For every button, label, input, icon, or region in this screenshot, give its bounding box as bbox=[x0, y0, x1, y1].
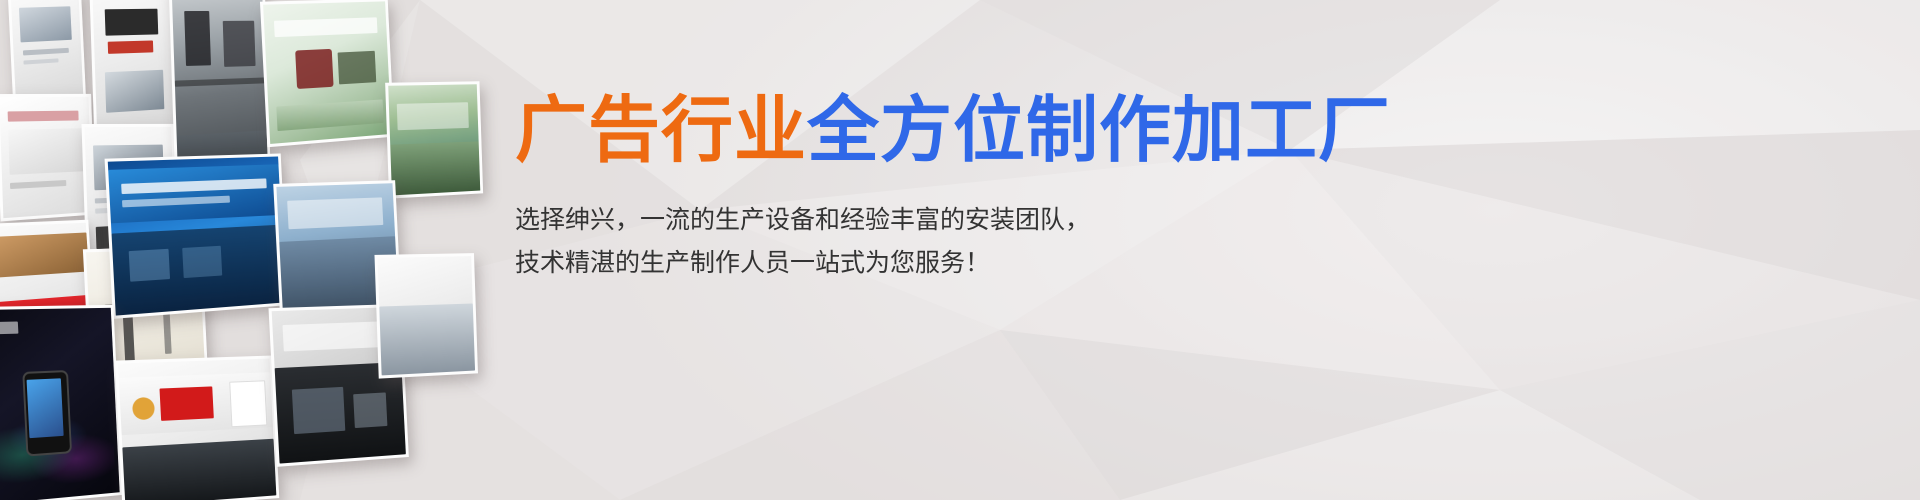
collage-photo-iphone-poster-lightbox bbox=[0, 305, 123, 500]
subtitle-line-1: 选择绅兴，一流的生产设备和经验丰富的安装团队， bbox=[515, 198, 1495, 241]
headline-part-blue: 全方位制作加工厂 bbox=[807, 88, 1391, 172]
collage-photo-qingtian-shop-sign bbox=[115, 356, 279, 500]
subtitle: 选择绅兴，一流的生产设备和经验丰富的安装团队， 技术精湛的生产制作人员一站式为您… bbox=[515, 198, 1495, 284]
headline: 广告行业全方位制作加工厂 bbox=[515, 92, 1495, 168]
collage-photo-product-box-stack bbox=[0, 94, 95, 222]
collage-photo-garden-wall-sign bbox=[260, 0, 394, 147]
collage-photo-white-panel-right bbox=[374, 253, 477, 379]
promo-banner: 广告行业全方位制作加工厂 选择绅兴，一流的生产设备和经验丰富的安装团队， 技术精… bbox=[0, 0, 1920, 500]
banner-text-block: 广告行业全方位制作加工厂 选择绅兴，一流的生产设备和经验丰富的安装团队， 技术精… bbox=[515, 92, 1495, 284]
subtitle-line-2: 技术精湛的生产制作人员一站式为您服务！ bbox=[515, 241, 1495, 284]
collage-photo-blue-shopfront-lightbox bbox=[105, 153, 289, 318]
headline-part-orange: 广告行业 bbox=[515, 88, 807, 172]
collage-photo-park-landscape-billboard bbox=[385, 81, 483, 198]
photo-collage bbox=[0, 0, 460, 500]
